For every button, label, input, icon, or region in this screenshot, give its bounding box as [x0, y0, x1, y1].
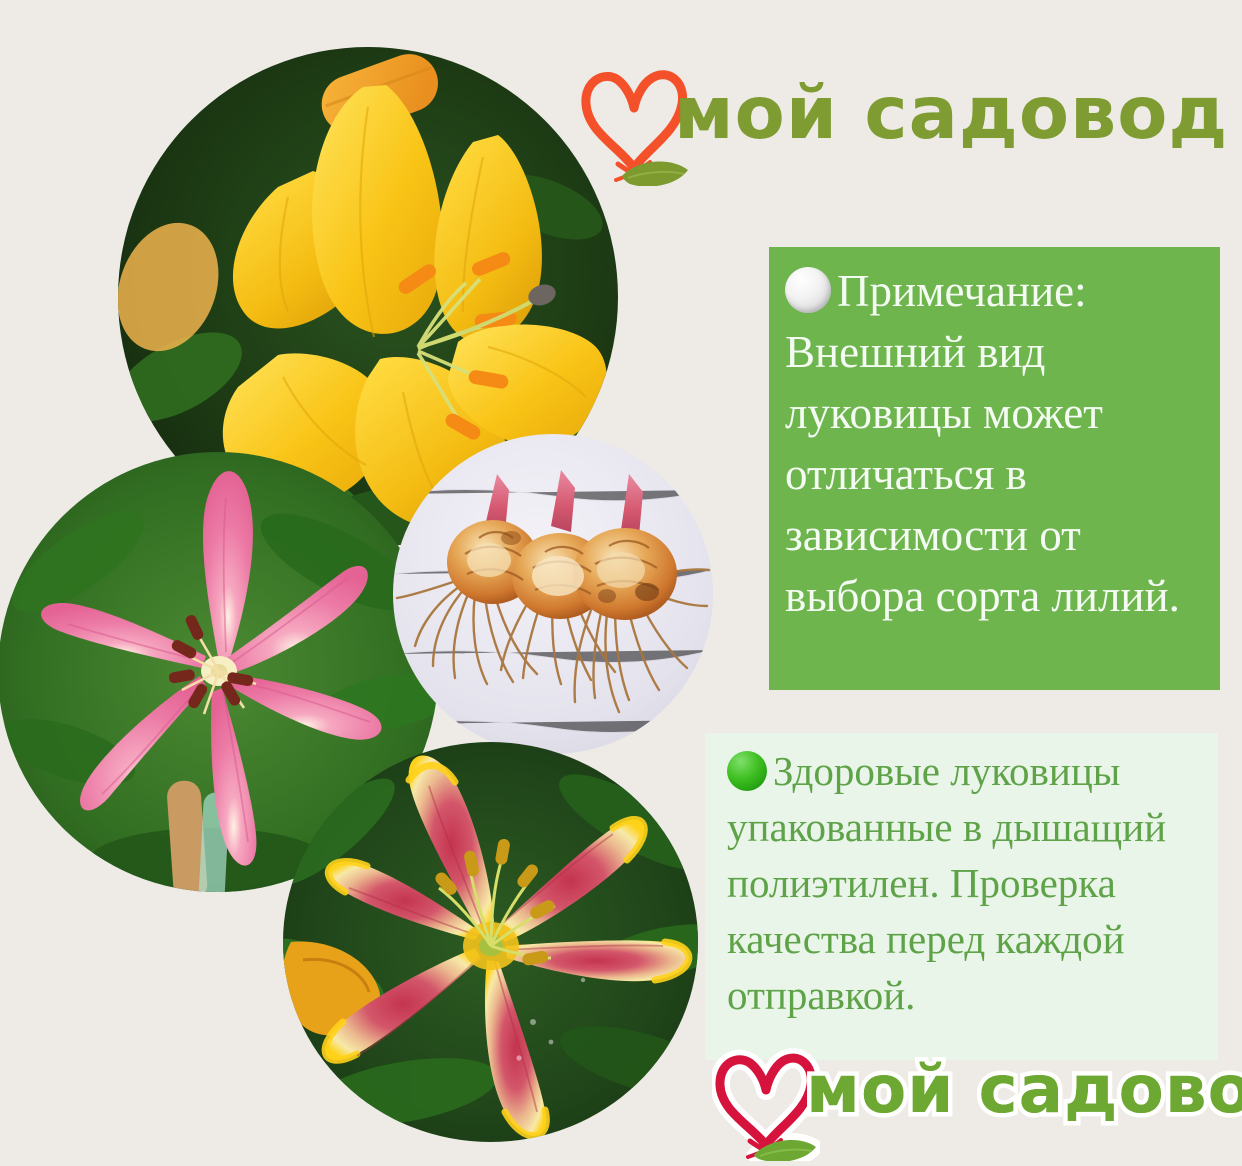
footer-logo[interactable]: мой садовод мой садовод — [710, 1045, 1230, 1164]
heart-leaf-logo-mark — [712, 1045, 820, 1161]
quality-card: Здоровые луковицы упакованные в дышащий … — [705, 733, 1218, 1060]
note-card: Примечание: Внешний вид луковицы может о… — [769, 247, 1220, 690]
white-circle-bullet-icon — [785, 267, 831, 313]
quality-card-body: Здоровые луковицы упакованные в дышащий … — [727, 748, 1166, 1018]
header-logo-text: мой садовод — [674, 72, 1228, 156]
note-card-body: Примечание: Внешний вид луковицы может о… — [785, 266, 1180, 621]
quality-card-text: Здоровые луковицы упакованные в дышащий … — [727, 743, 1204, 1023]
green-circle-bullet-icon — [727, 751, 767, 791]
header-logo[interactable]: мой садовод — [578, 58, 1228, 190]
bicolor-lily-photo — [283, 742, 698, 1142]
lily-bulbs-photo — [393, 434, 713, 754]
footer-logo-text: мой садовод — [806, 1051, 1242, 1129]
poster-canvas: мой садовод Примечание: Внешний вид луко… — [0, 0, 1242, 1164]
note-card-text: Примечание: Внешний вид луковицы может о… — [785, 261, 1200, 627]
